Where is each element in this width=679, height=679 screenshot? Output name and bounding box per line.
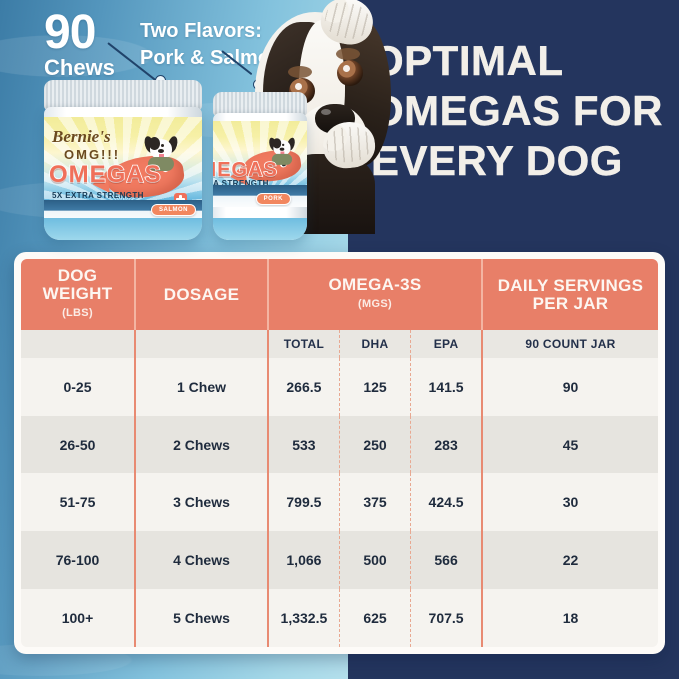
table-row: 100+ 5 Chews 1,332.5 625 707.5 18 [20,589,659,648]
cell-dha: 375 [339,473,410,531]
subheader-count-jar: 90 COUNT JAR [482,330,659,358]
water-band [213,218,307,240]
column-header-daily-servings: DAILY SERVINGS PER JAR [482,258,659,330]
table-row: 76-100 4 Chews 1,066 500 566 22 [20,531,659,589]
subheader-epa: EPA [411,330,482,358]
cell-dog-weight: 51-75 [20,473,135,531]
cell-dha: 250 [339,416,410,474]
jar-label: OMEGAS 5X EXTRA STRENGTH OMEGA-3s DHA+EP… [213,121,307,207]
jar-strength-line-1: 5X EXTRA STRENGTH [52,191,144,200]
headline-line-2: OMEGAS FOR [371,86,671,136]
table-subheader-row: TOTAL DHA EPA 90 COUNT JAR [20,330,659,358]
dog-eye-right [337,60,363,86]
jar-body: Bernie's OMG!!! OMEGAS 5X EXTRA STRENGTH… [44,107,202,240]
column-header-dog-weight: DOG WEIGHT (lbs) [20,258,135,330]
cell-total: 533 [268,416,339,474]
cell-servings: 90 [482,358,659,416]
puppy-eye-left [275,144,277,146]
cell-dha: 500 [339,531,410,589]
cell-dha: 625 [339,589,410,648]
puppy-nose [158,149,164,153]
cell-dosage: 1 Chew [135,358,268,416]
headline-line-3: EVERY DOG [371,136,671,186]
cell-dosage: 2 Chews [135,416,268,474]
puppy-eye-right [282,144,284,146]
product-jar-pork: OMEGAS 5X EXTRA STRENGTH OMEGA-3s DHA+EP… [213,92,307,240]
flavor-badge-salmon: SALMON [151,204,196,216]
table-body: 0-25 1 Chew 266.5 125 141.5 90 26-50 2 C… [20,358,659,648]
cell-servings: 30 [482,473,659,531]
cell-dog-weight: 0-25 [20,358,135,416]
product-jar-salmon: Bernie's OMG!!! OMEGAS 5X EXTRA STRENGTH… [44,80,202,240]
cell-dog-weight: 100+ [20,589,135,648]
cell-servings: 22 [482,531,659,589]
chew-count-label: Chews [44,55,115,81]
cell-servings: 45 [482,416,659,474]
puppy-eye-right [161,144,164,147]
dog-brow-right [336,48,360,60]
page-title: OPTIMAL OMEGAS FOR EVERY DOG [371,36,671,186]
headline-line-1: OPTIMAL [371,36,671,86]
jar-brand-name: Bernie's [52,127,111,147]
jar-product-name: OMEGAS [49,161,162,189]
chew-count-number: 90 [44,8,95,58]
cell-dog-weight: 26-50 [20,416,135,474]
jar-sub-brand: OMG!!! [64,147,120,162]
table-row: 51-75 3 Chews 799.5 375 424.5 30 [20,473,659,531]
flavor-badge-pork: PORK [256,193,291,205]
dog-brow-left [288,66,312,78]
cell-epa: 424.5 [411,473,482,531]
table-header-row: DOG WEIGHT (lbs) DOSAGE OMEGA-3S (mgs) D… [20,258,659,330]
subheader-blank-2 [135,330,268,358]
dosage-table: DOG WEIGHT (lbs) DOSAGE OMEGA-3S (mgs) D… [19,257,660,649]
cell-total: 1,066 [268,531,339,589]
cell-epa: 566 [411,531,482,589]
cell-total: 266.5 [268,358,339,416]
subheader-total: TOTAL [268,330,339,358]
puppy-eye-left [152,144,155,147]
cell-dog-weight: 76-100 [20,531,135,589]
subheader-blank-1 [20,330,135,358]
table-row: 26-50 2 Chews 533 250 283 45 [20,416,659,474]
column-header-dosage: DOSAGE [135,258,268,330]
subheader-dha: DHA [339,330,410,358]
column-header-omega3s: OMEGA-3S (mgs) [268,258,482,330]
cell-dha: 125 [339,358,410,416]
cell-servings: 18 [482,589,659,648]
cell-dosage: 5 Chews [135,589,268,648]
cell-epa: 141.5 [411,358,482,416]
infographic-root: OPTIMAL OMEGAS FOR EVERY DOG 90 Chews Tw… [0,0,679,679]
puppy-nose [280,148,285,151]
jar-lid [44,80,202,110]
dosage-table-container: DOG WEIGHT (lbs) DOSAGE OMEGA-3S (mgs) D… [14,252,665,654]
cell-epa: 707.5 [411,589,482,648]
jar-label: Bernie's OMG!!! OMEGAS 5X EXTRA STRENGTH… [44,117,202,222]
jar-body: OMEGAS 5X EXTRA STRENGTH OMEGA-3s DHA+EP… [213,113,307,240]
cell-epa: 283 [411,416,482,474]
cell-dosage: 3 Chews [135,473,268,531]
water-band [44,218,202,240]
cell-total: 799.5 [268,473,339,531]
cell-dosage: 4 Chews [135,531,268,589]
cell-total: 1,332.5 [268,589,339,648]
table-row: 0-25 1 Chew 266.5 125 141.5 90 [20,358,659,416]
